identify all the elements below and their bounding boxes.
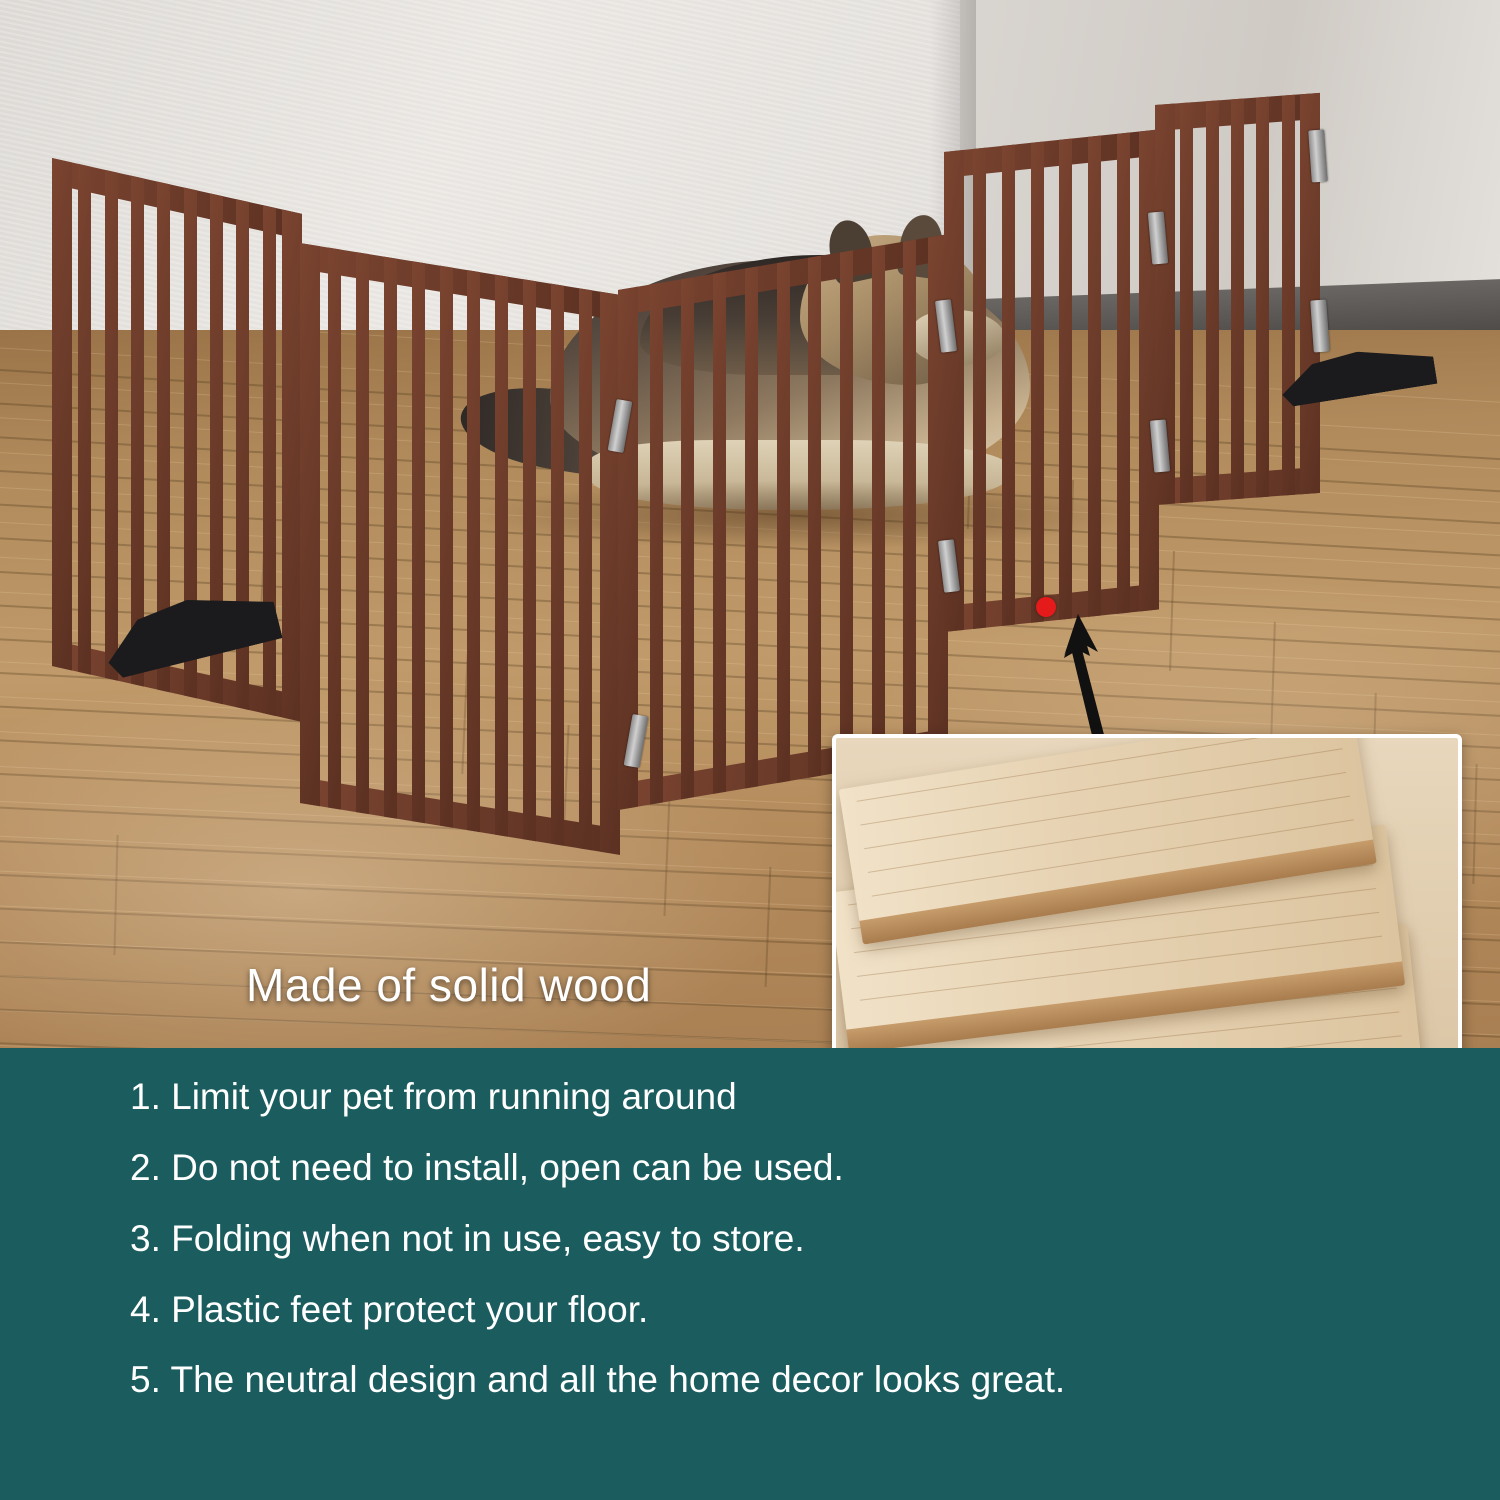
gate-hinge (1310, 300, 1330, 353)
wood-board-grain (860, 748, 1343, 825)
gate-baluster (412, 261, 425, 823)
solid-wood-inset (832, 734, 1462, 1048)
gate-top-rail (300, 243, 620, 321)
feature-item-4: 4. Plastic feet protect your floor. (130, 1291, 1460, 1330)
product-infographic: Made of solid wood 1. Limit your pet fro… (0, 0, 1500, 1500)
gate-stile (52, 158, 72, 670)
feature-item-3: 3. Folding when not in use, easy to stor… (130, 1220, 1460, 1259)
features-list: 1. Limit your pet from running around 2.… (130, 1078, 1460, 1432)
gate-baluster (1231, 98, 1244, 499)
gate-baluster (973, 148, 986, 629)
gate-baluster (1059, 139, 1072, 620)
gate-bottom-rail (300, 777, 620, 855)
gate-baluster (1180, 102, 1193, 503)
gate-stile (300, 243, 320, 806)
caption-made-of-solid-wood: Made of solid wood (246, 958, 651, 1012)
gate-stile (600, 292, 620, 855)
gate-baluster (808, 256, 821, 778)
product-photo: Made of solid wood (0, 0, 1500, 1048)
gate-baluster (105, 170, 118, 681)
gate-panel-2 (300, 243, 620, 855)
features-panel: 1. Limit your pet from running around 2.… (0, 1048, 1500, 1500)
gate-baluster (872, 245, 885, 767)
gate-baluster (1117, 132, 1130, 613)
gate-baluster (681, 277, 694, 799)
gate-baluster (440, 266, 453, 828)
feature-item-1: 1. Limit your pet from running around (130, 1078, 1460, 1117)
gate-baluster (467, 270, 480, 832)
gate-baluster (328, 248, 341, 810)
gate-hinge (1308, 130, 1328, 183)
gate-baluster (1031, 142, 1044, 623)
feature-item-5: 5. The neutral design and all the home d… (130, 1361, 1460, 1400)
gate-baluster (1002, 145, 1015, 626)
gate-baluster (551, 284, 564, 846)
gate-baluster (579, 288, 592, 850)
gate-panel-5 (1155, 93, 1320, 505)
gate-baluster (903, 240, 916, 762)
gate-baluster (713, 272, 726, 794)
gate-baluster (1282, 95, 1295, 496)
gate-baluster (1206, 100, 1219, 501)
wood-board-grain (864, 772, 1347, 849)
gate-panel-3 (618, 234, 948, 810)
gate-baluster (650, 282, 663, 804)
gate-baluster (1256, 97, 1269, 498)
gate-stile (282, 209, 302, 721)
gate-baluster (356, 252, 369, 814)
feature-item-2: 2. Do not need to install, open can be u… (130, 1149, 1460, 1188)
gate-baluster (384, 257, 397, 819)
gate-baluster (840, 250, 853, 772)
gate-baluster (78, 164, 91, 675)
gate-baluster (495, 275, 508, 837)
gate-baluster (131, 176, 144, 687)
gate-baluster (523, 279, 536, 841)
gate-baluster (777, 261, 790, 783)
wood-board-grain (856, 734, 1339, 802)
gate-baluster (1088, 135, 1101, 616)
gate-panel-4 (944, 129, 1159, 632)
gate-baluster (745, 266, 758, 788)
